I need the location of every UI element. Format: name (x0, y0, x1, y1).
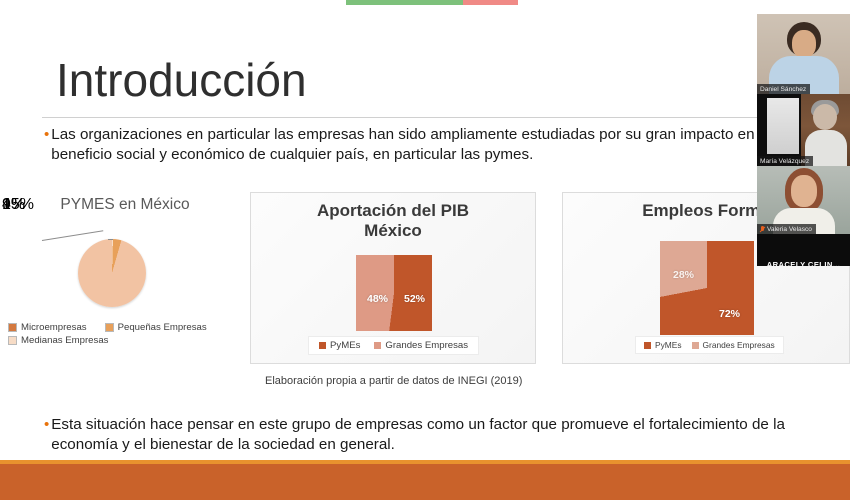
chart3-legend-item-pymes: PyMEs (644, 340, 682, 350)
chart1-legend-item-microempresas: Microempresas (8, 322, 87, 333)
chart2-legend-item-grandes: Grandes Empresas (374, 340, 468, 351)
legend-swatch-icon (319, 342, 326, 349)
chart2-legend-label-0: PyMEs (330, 340, 360, 351)
chart1-legend-item-medianas: Medianas Empresas (8, 335, 108, 346)
top-flag-decoration (346, 0, 518, 5)
legend-swatch-icon (8, 323, 17, 332)
video-tile-daniel-sanchez[interactable]: Daniel Sánchez (757, 14, 850, 94)
bullet-text-bottom: Esta situación hace pensar en este grupo… (51, 415, 804, 455)
chart1-legend-label-0: Microempresas (21, 322, 87, 333)
video-conference-panel[interactable]: Daniel Sánchez María Velázquez Valeria V… (757, 14, 850, 266)
legend-swatch-icon (105, 323, 114, 332)
video-tile-valeria-velasco[interactable]: Valeria Velasco (757, 166, 850, 234)
chart2-title-line1: Aportación del PIB (251, 201, 535, 221)
chart-aportacion-pib: Aportación del PIB México 48% 52% PyMEs … (250, 192, 536, 364)
footer-band (0, 464, 850, 500)
chart3-label-72: 72% (719, 308, 740, 320)
chart3-legend: PyMEs Grandes Empresas (635, 336, 784, 354)
bullet-marker-icon: • (44, 125, 49, 144)
chart1-leader-line-2 (108, 239, 113, 240)
bullet-text-top: Las organizaciones en particular las emp… (51, 125, 834, 165)
microphone-muted-icon (760, 226, 765, 233)
chart3-legend-item-grandes: Grandes Empresas (692, 340, 775, 350)
shared-blank-region (767, 98, 799, 154)
chart2-title: Aportación del PIB México (251, 201, 535, 242)
chart3-label-28: 28% (673, 269, 694, 281)
chart2-title-line2: México (251, 221, 535, 241)
title-divider (42, 117, 814, 118)
chart1-legend-item-pequenas: Pequeñas Empresas (105, 322, 207, 333)
participant-name-maria: María Velázquez (757, 156, 813, 166)
chart3-legend-label-1: Grandes Empresas (703, 340, 775, 350)
bullet-item-top: • Las organizaciones en particular las e… (44, 125, 834, 165)
bullet-item-bottom: • Esta situación hace pensar en este gru… (44, 415, 804, 455)
legend-swatch-icon (644, 342, 651, 349)
participant-name-valeria-label: Valeria Velasco (767, 226, 812, 233)
flag-green-segment (346, 0, 463, 5)
chart2-label-52: 52% (404, 293, 425, 305)
chart1-legend-label-1: Pequeñas Empresas (118, 322, 207, 333)
page-title: Introducción (56, 56, 307, 104)
participant-name-aracely: ARACELY CELIN... (767, 260, 841, 267)
avatar-face (792, 30, 816, 58)
source-caption: Elaboración propia a partir de datos de … (265, 375, 522, 387)
flag-red-segment (463, 0, 518, 5)
legend-swatch-icon (374, 342, 381, 349)
chart2-label-48: 48% (367, 293, 388, 305)
presentation-slide: Introducción • Las organizaciones en par… (0, 0, 850, 500)
participant-name-daniel: Daniel Sánchez (757, 84, 810, 94)
legend-swatch-icon (692, 342, 699, 349)
chart3-pie-disc (660, 241, 754, 335)
legend-swatch-icon (8, 336, 17, 345)
avatar-face (791, 175, 817, 207)
chart2-legend: PyMEs Grandes Empresas (308, 336, 479, 355)
bullet-marker-icon: • (44, 415, 49, 434)
video-tile-maria-velazquez[interactable]: María Velázquez (757, 94, 850, 166)
chart2-legend-item-pymes: PyMEs (319, 340, 360, 351)
participant-name-valeria: Valeria Velasco (757, 224, 816, 234)
video-tile-aracely[interactable]: ARACELY CELIN... (757, 234, 850, 266)
chart3-legend-label-0: PyMEs (655, 340, 682, 350)
chart1-legend-label-2: Medianas Empresas (21, 335, 108, 346)
chart1-legend: Microempresas Pequeñas Empresas Medianas… (8, 322, 244, 346)
chart2-legend-label-1: Grandes Empresas (385, 340, 468, 351)
avatar-face (813, 104, 837, 130)
